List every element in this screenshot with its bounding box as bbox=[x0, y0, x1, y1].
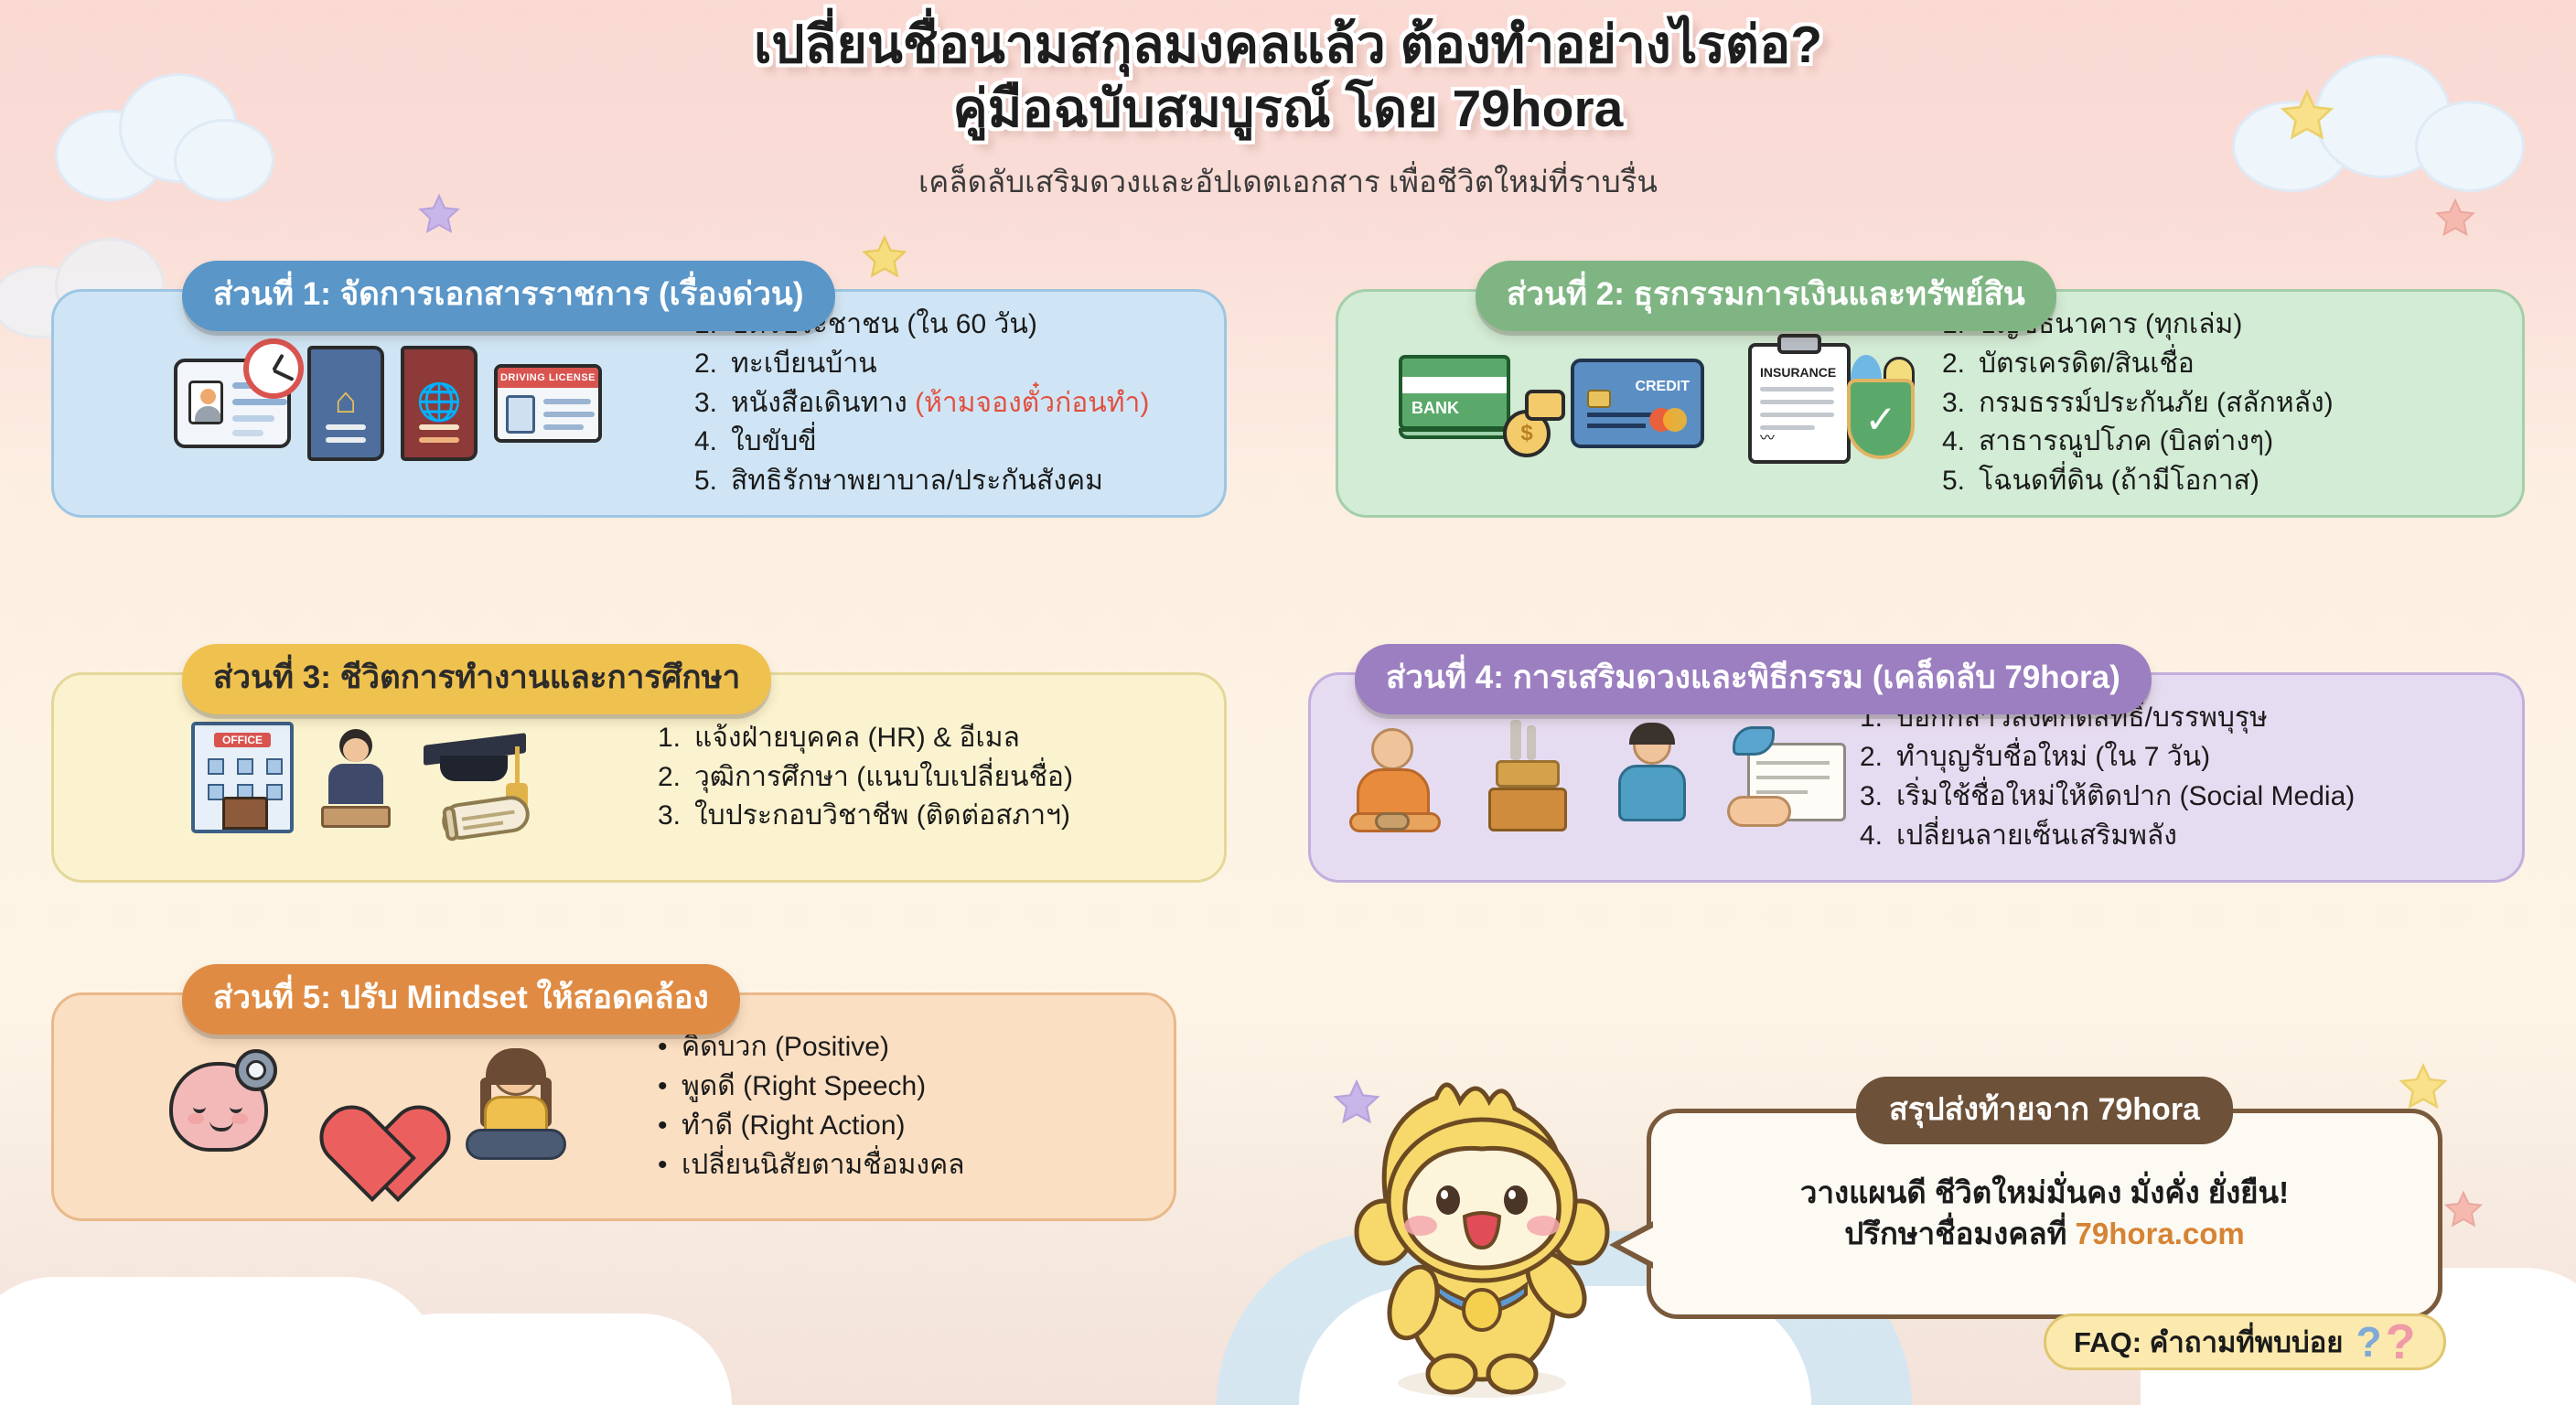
house-registration-book-icon: ⌂ bbox=[307, 346, 384, 461]
list-item: 5.โฉนดที่ดิน (ถ้ามีโอกาส) bbox=[1942, 462, 2522, 501]
monk-icon bbox=[1344, 723, 1450, 832]
list-item: 3.เริ่มใช้ชื่อใหม่ให้ติดปาก (Social Medi… bbox=[1860, 778, 2522, 817]
list-item: •พูดดี (Right Speech) bbox=[658, 1067, 1174, 1107]
summary-line-2-prefix: ปรึกษาชื่อมงคลที่ bbox=[1844, 1217, 2075, 1250]
section-panel-4: ส่วนที่ 4: การเสริมดวงและพิธีกรรม (เคล็ด… bbox=[1308, 672, 2525, 883]
bank-book-icon: BANK $ bbox=[1399, 355, 1523, 452]
list-item: 3.ใบประกอบวิชาชีพ (ติดต่อสภาฯ) bbox=[658, 797, 1224, 836]
incense-offering-icon bbox=[1477, 718, 1574, 837]
clock-icon bbox=[243, 338, 304, 399]
list-item: 5.สิทธิรักษาพยาบาล/ประกันสังคม bbox=[694, 462, 1224, 501]
summary-bubble: สรุปส่งท้ายจาก 79hora วางแผนดี ชีวิตใหม่… bbox=[1647, 1109, 2442, 1319]
gear-icon bbox=[235, 1049, 277, 1091]
meditating-person-icon bbox=[456, 1052, 575, 1162]
officer-person-icon bbox=[325, 727, 389, 828]
list-item: 1.แจ้งฝ่ายบุคคล (HR) & อีเมล bbox=[658, 719, 1224, 758]
id-card-icon bbox=[174, 359, 291, 448]
section-panel-1: ส่วนที่ 1: จัดการเอกสารราชการ (เรื่องด่ว… bbox=[51, 289, 1227, 518]
page-subtitle: เคล็ดลับเสริมดวงและอัปเดตเอกสาร เพื่อชีว… bbox=[0, 157, 2576, 206]
insurance-document-icon: INSURANCE 〰 bbox=[1748, 343, 1851, 464]
utility-icons: ✓ bbox=[1851, 353, 1905, 454]
credit-card-icon: CREDIT bbox=[1571, 359, 1704, 448]
summary-line-2: ปรึกษาชื่อมงคลที่ 79hora.com bbox=[1844, 1214, 2245, 1255]
shield-check-icon: ✓ bbox=[1847, 379, 1915, 459]
office-building-icon: OFFICE bbox=[191, 722, 294, 833]
section-chip-1: ส่วนที่ 1: จัดการเอกสารราชการ (เรื่องด่ว… bbox=[182, 261, 835, 331]
star-icon bbox=[860, 233, 909, 283]
ordered-list: 1.แจ้งฝ่ายบุคคล (HR) & อีเมล 2.วุฒิการศึ… bbox=[658, 719, 1224, 837]
summary-chip: สรุปส่งท้ายจาก 79hora bbox=[1856, 1077, 2233, 1144]
hand-icon bbox=[1727, 796, 1791, 827]
section-chip-2: ส่วนที่ 2: ธุรกรรมการเงินและทรัพย์สิน bbox=[1476, 261, 2056, 331]
section-3-items: 1.แจ้งฝ่ายบุคคล (HR) & อีเมล 2.วุฒิการศึ… bbox=[658, 719, 1224, 837]
list-item: 3.กรมธรรม์ประกันภัย (สลักหลัง) bbox=[1942, 384, 2522, 424]
section-5-items: •คิดบวก (Positive) •พูดดี (Right Speech)… bbox=[658, 1028, 1174, 1185]
faq-badge[interactable]: FAQ: คำถามที่พบบ่อย ? ? bbox=[2044, 1314, 2446, 1370]
mascot-character bbox=[1331, 1072, 1633, 1401]
section-chip-3: ส่วนที่ 3: ชีวิตการทำงานและการศึกษา bbox=[182, 644, 771, 714]
warning-note: (ห้ามจองตั๋วก่อนทำ) bbox=[915, 388, 1149, 418]
brain-gear-icon bbox=[169, 1062, 268, 1152]
section-panel-3: ส่วนที่ 3: ชีวิตการทำงานและการศึกษา OFFI… bbox=[51, 672, 1227, 883]
section-panel-2: ส่วนที่ 2: ธุรกรรมการเงินและทรัพย์สิน BA… bbox=[1336, 289, 2525, 518]
section-4-illustration bbox=[1311, 718, 1860, 837]
cloud-bottom-mid bbox=[348, 1314, 732, 1405]
infographic-header: เปลี่ยนชื่อนามสกุลมงคลแล้ว ต้องทำอย่างไร… bbox=[0, 16, 2576, 206]
section-1-illustration: ⌂ 🌐 DRIVING LICENSE bbox=[54, 346, 694, 461]
section-panel-5: ส่วนที่ 5: ปรับ Mindset ให้สอดคล้อง •คิด… bbox=[51, 992, 1176, 1221]
brand-link[interactable]: 79hora.com bbox=[2076, 1217, 2245, 1250]
ordered-list: 1.บัตรประชาชน (ใน 60 วัน) 2.ทะเบียนบ้าน … bbox=[694, 306, 1224, 501]
driving-license-icon: DRIVING LICENSE bbox=[494, 364, 602, 443]
list-item: •ทำดี (Right Action) bbox=[658, 1107, 1174, 1146]
list-item: 3.หนังสือเดินทาง (ห้ามจองตั๋วก่อนทำ) bbox=[694, 384, 1224, 424]
list-item: 4.เปลี่ยนลายเซ็นเสริมพลัง bbox=[1860, 817, 2522, 856]
passport-icon: 🌐 bbox=[401, 346, 478, 461]
list-item: 4.ใบขับขี่ bbox=[694, 423, 1224, 462]
star-icon bbox=[2397, 1061, 2450, 1114]
list-item: •เปลี่ยนนิสัยตามชื่อมงคล bbox=[658, 1146, 1174, 1185]
faq-label: FAQ: คำถามที่พบบ่อย bbox=[2074, 1319, 2343, 1365]
section-3-illustration: OFFICE bbox=[54, 722, 658, 833]
section-chip-4: ส่วนที่ 4: การเสริมดวงและพิธีกรรม (เคล็ด… bbox=[1355, 644, 2152, 714]
question-mark-icon: ? bbox=[2356, 1321, 2381, 1363]
person-praying-icon bbox=[1602, 723, 1699, 832]
heart-icon bbox=[312, 1061, 413, 1153]
diploma-icon bbox=[440, 794, 532, 842]
list-item: •คิดบวก (Positive) bbox=[658, 1028, 1174, 1067]
list-item: 2.ทะเบียนบ้าน bbox=[694, 345, 1224, 384]
summary-line-1: วางแผนดี ชีวิตใหม่มั่นคง มั่งคั่ง ยั่งยื… bbox=[1800, 1173, 2289, 1214]
list-item: 2.บัตรเครดิต/สินเชื่อ bbox=[1942, 345, 2522, 384]
list-item: 2.วุฒิการศึกษา (แนบใบเปลี่ยนชื่อ) bbox=[658, 758, 1224, 798]
graduation-cap-icon bbox=[420, 723, 557, 832]
section-2-items: 1.บัญชีธนาคาร (ทุกเล่ม) 2.บัตรเครดิต/สิน… bbox=[1942, 306, 2522, 501]
page-title-line1: เปลี่ยนชื่อนามสกุลมงคลแล้ว ต้องทำอย่างไร… bbox=[0, 16, 2576, 75]
section-4-items: 1.บอกกล่าวสิ่งศักดิ์สิทธิ์/บรรพบุรุษ 2.ท… bbox=[1860, 699, 2522, 856]
ordered-list: 1.บอกกล่าวสิ่งศักดิ์สิทธิ์/บรรพบุรุษ 2.ท… bbox=[1860, 699, 2522, 856]
ordered-list: 1.บัญชีธนาคาร (ทุกเล่ม) 2.บัตรเครดิต/สิน… bbox=[1942, 306, 2522, 501]
coin-stack-icon bbox=[1525, 390, 1565, 421]
star-icon bbox=[2442, 1189, 2485, 1231]
hand-writing-note-icon bbox=[1727, 723, 1860, 832]
question-mark-icon: ? bbox=[2386, 1317, 2416, 1367]
section-5-illustration bbox=[54, 1052, 658, 1162]
section-chip-5: ส่วนที่ 5: ปรับ Mindset ให้สอดคล้อง bbox=[182, 964, 740, 1035]
list-item: 2.ทำบุญรับชื่อใหม่ (ใน 7 วัน) bbox=[1860, 738, 2522, 778]
page-title-line2: คู่มือฉบับสมบูรณ์ โดย 79hora bbox=[0, 80, 2576, 139]
list-item: 4.สาธารณูปโภค (บิลต่างๆ) bbox=[1942, 423, 2522, 462]
section-1-items: 1.บัตรประชาชน (ใน 60 วัน) 2.ทะเบียนบ้าน … bbox=[694, 306, 1224, 501]
section-2-illustration: BANK $ CREDIT INSURANCE 〰 ✓ bbox=[1338, 343, 1942, 464]
bullet-list: •คิดบวก (Positive) •พูดดี (Right Speech)… bbox=[658, 1028, 1174, 1185]
